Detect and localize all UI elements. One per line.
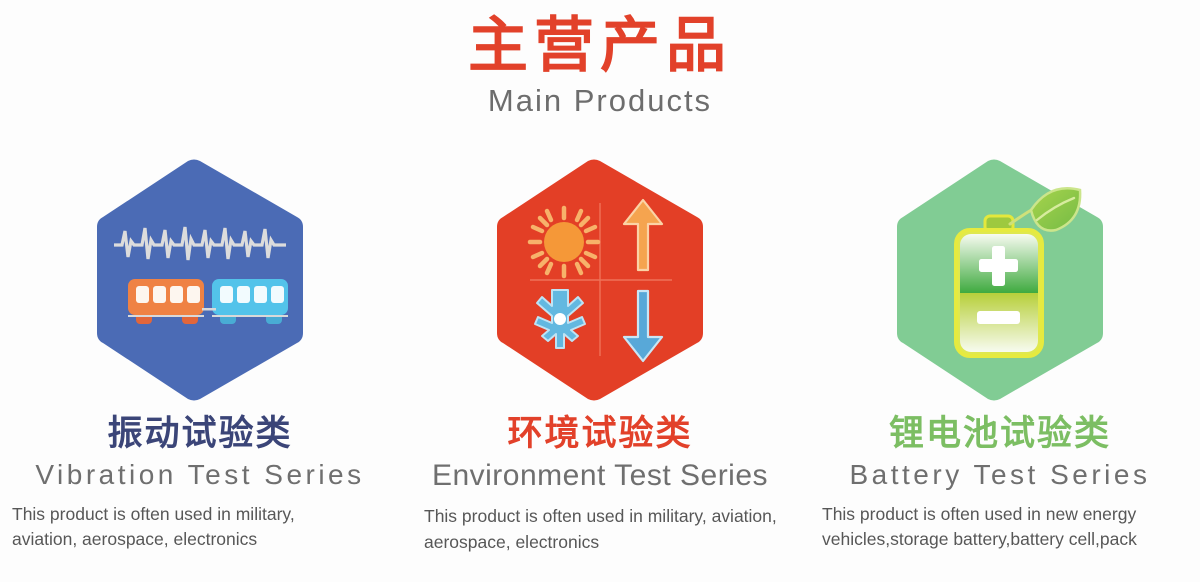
product-card-environment[interactable]: 环境试验类 Environment Test Series This produ…: [400, 150, 800, 555]
arrow-up-icon: [624, 200, 662, 270]
waveform-icon: [114, 227, 286, 260]
train-car-orange-icon: [128, 279, 204, 324]
product-card-battery[interactable]: 锂电池试验类 Battery Test Series This product …: [800, 150, 1200, 555]
page-header: 主营产品 Main Products: [0, 0, 1200, 119]
product-label-cn-battery: 锂电池试验类: [800, 414, 1200, 454]
train-car-blue-icon: [202, 279, 288, 324]
page-title-en: Main Products: [0, 83, 1200, 119]
vibration-icon-graphics: [92, 158, 308, 402]
battery-icon-graphics: [892, 158, 1108, 402]
snowflake-icon: [535, 290, 585, 348]
environment-icon-graphics: [492, 158, 708, 402]
arrow-down-icon: [624, 291, 662, 361]
product-icon-battery[interactable]: [892, 158, 1108, 402]
product-label-en-vibration: Vibration Test Series: [0, 458, 400, 492]
product-label-cn-vibration: 振动试验类: [0, 414, 400, 454]
page-title-cn: 主营产品: [0, 14, 1200, 77]
product-description-battery: This product is often used in new energy…: [822, 502, 1174, 553]
sun-icon: [530, 208, 598, 276]
product-text-vibration: 振动试验类 Vibration Test Series This product…: [0, 402, 400, 553]
product-text-battery: 锂电池试验类 Battery Test Series This product …: [800, 402, 1200, 553]
product-text-environment: 环境试验类 Environment Test Series This produ…: [400, 402, 800, 555]
product-description-vibration: This product is often used in military, …: [12, 502, 364, 553]
minus-sign-icon: [977, 311, 1020, 324]
product-label-en-battery: Battery Test Series: [800, 458, 1200, 492]
leaf-icon: [1010, 188, 1080, 230]
product-label-en-environment: Environment Test Series: [400, 458, 800, 494]
product-columns: 振动试验类 Vibration Test Series This product…: [0, 150, 1200, 555]
product-icon-vibration[interactable]: [92, 158, 308, 402]
product-description-environment: This product is often used in military, …: [424, 504, 792, 555]
battery-icon: [956, 216, 1042, 356]
product-card-vibration[interactable]: 振动试验类 Vibration Test Series This product…: [0, 150, 400, 555]
product-label-cn-environment: 环境试验类: [400, 414, 800, 454]
product-icon-environment[interactable]: [492, 158, 708, 402]
